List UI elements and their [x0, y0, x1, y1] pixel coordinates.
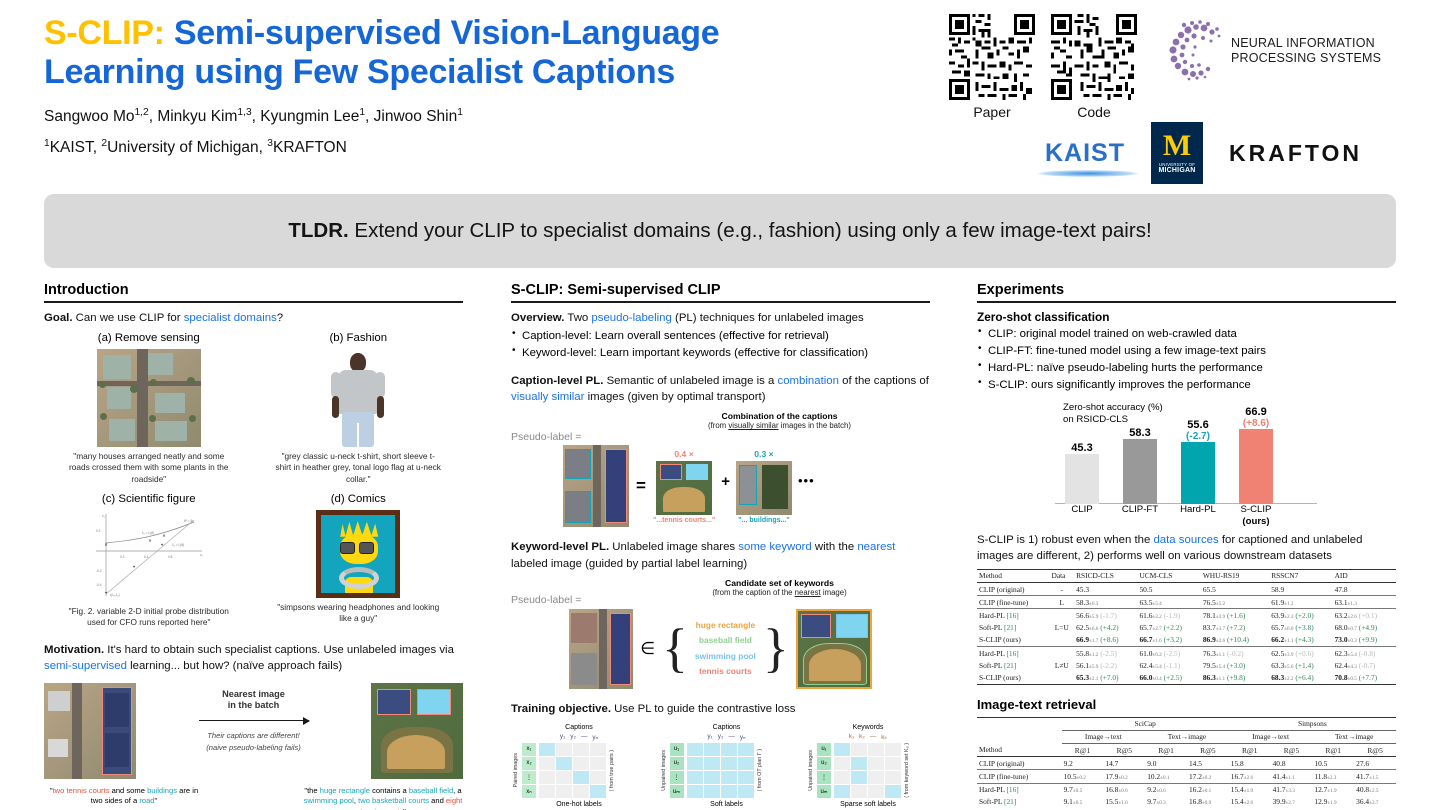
neurips-line1: NEURAL INFORMATION: [1231, 36, 1381, 51]
table-cell: 45.3: [1074, 583, 1137, 596]
robust-a: S-CLIP is 1) robust even when the: [977, 534, 1153, 546]
keyword-pl-link1: some keyword: [738, 541, 811, 553]
table-cell: 66.7±1.6 (+3.2): [1137, 634, 1200, 647]
table-cell-method: Soft-PL [21]: [977, 796, 1062, 808]
motivation-text-b: learning... but how? (naïve approach fai…: [127, 660, 342, 672]
table-cell: 62.5±3.9 (+0.6): [1269, 647, 1332, 660]
fig2-pseudo-label: Pseudo-label =: [511, 594, 629, 606]
loss-row-axis-label: Unpaired images: [808, 750, 814, 791]
fashion-image: [318, 349, 398, 447]
fig1-image2: [736, 461, 792, 515]
col-label: kₖ: [881, 733, 887, 741]
svg-text:0.4: 0.4: [144, 555, 149, 559]
overview-bullet: Caption-level: Learn overall sentences (…: [511, 328, 930, 345]
arrow-title-line1: Nearest image: [184, 689, 324, 701]
fig2-sub: (from the caption of the nearest image): [629, 588, 930, 597]
table-col-header: RSSCN7: [1269, 569, 1332, 582]
table-metric-header: R@5: [1271, 743, 1313, 756]
table-cell: 61.9±1.2: [1269, 596, 1332, 609]
neurips-line2: PROCESSING SYSTEMS: [1231, 51, 1381, 66]
brace-left-icon: {: [662, 630, 688, 668]
chart-x-labels: CLIPCLIP-FTHard-PLS-CLIP(ours): [1063, 504, 1275, 528]
fig1-caption2: "... buildings...": [736, 517, 792, 524]
motivation-caption-right: "the huge rectangle contains a baseball …: [303, 786, 463, 810]
row-label: ⋮: [522, 771, 536, 784]
table-cell-method: CLIP (fine-tune): [977, 596, 1050, 609]
table-col-header: UCM-CLS: [1137, 569, 1200, 582]
svg-text:λ₂ = L(θ): λ₂ = L(θ): [172, 543, 184, 547]
qr-paper-label: Paper: [973, 104, 1010, 120]
loss-figure-keyword: Keywords k₁k₂—kₖ Unpaired images u₁ u₂ ⋮…: [808, 724, 928, 810]
fig1-pseudo-label: Pseudo-label =: [511, 431, 629, 443]
fig2-nearest-image: [796, 609, 872, 689]
header-left: S-CLIP: Semi-supervised Vision-Language …: [44, 14, 949, 184]
row-label: u₁: [817, 743, 831, 756]
caption-pl-a: Semantic of unlabeled image is a: [603, 375, 777, 387]
row-label: xₙ: [522, 785, 536, 798]
table-cell: 70.8±0.5 (+7.7): [1333, 671, 1396, 684]
table-cell: 68.3±2.2 (+6.4): [1269, 671, 1332, 684]
table-cell: 9.0: [1145, 757, 1187, 770]
table-row: CLIP (fine-tune)10.5±0.217.9±0.210.2±0.1…: [977, 770, 1396, 783]
poster-header: S-CLIP: Semi-supervised Vision-Language …: [0, 0, 1440, 184]
domain-caption: "many houses arranged neatly and some ro…: [65, 451, 233, 485]
col-label: y₂: [718, 733, 724, 741]
row-label: x₂: [522, 757, 536, 770]
table-cell-data: [1050, 634, 1075, 647]
fig2-member-symbol: ∈: [640, 639, 655, 659]
loss-row-axis-label: Unpaired images: [661, 750, 667, 791]
table-row: CLIP (original)-45.350.565.558.947.8: [977, 583, 1396, 596]
table-cell-data: [1050, 647, 1075, 660]
loss-right-label: ( from OT plan Γ ): [757, 749, 763, 791]
table-cell: 17.2±0.2: [1187, 770, 1229, 783]
section-heading-method: S-CLIP: Semi-supervised CLIP: [511, 282, 930, 303]
table-cell: 83.7±3.7 (+7.2): [1201, 622, 1269, 634]
overview-link: pseudo-labeling: [591, 312, 671, 324]
table-cell: 41.7±3.3: [1271, 783, 1313, 796]
row-label: x₁: [522, 743, 536, 756]
col-label: yₙ: [592, 733, 598, 741]
col-label: yₙ: [740, 733, 746, 741]
robust-link: data sources: [1153, 534, 1218, 546]
table-cell-method: CLIP (original): [977, 583, 1050, 596]
table-row: Hard-PL [16]9.7±0.516.8±0.69.2±0.616.2±0…: [977, 783, 1396, 796]
bar: [1239, 429, 1273, 504]
table-cell: 15.4±1.9: [1229, 783, 1271, 796]
row-label: uₘ: [670, 785, 684, 798]
col-label: y₁: [560, 733, 565, 741]
goal-link: specialist domains: [184, 312, 277, 324]
table-cell: 56.1±5.9 (-2.2): [1074, 659, 1137, 671]
table-cell: 66.9±1.7 (+8.6): [1074, 634, 1137, 647]
loss-matrix-keyword: [834, 743, 901, 798]
table-row: Hard-PL [16]56.6±5.9 (-1.7)61.6±2.2 (-1.…: [977, 609, 1396, 622]
bar-delta-label: (-2.7): [1186, 431, 1210, 442]
goal-text: Goal. Can we use CLIP for specialist dom…: [44, 310, 463, 326]
loss-right-label: ( from true pairs ): [609, 750, 615, 791]
table-cell: 73.0±0.3 (+9.9): [1333, 634, 1396, 647]
goal-label: Goal.: [44, 312, 72, 324]
arrow-title-line2: in the batch: [184, 700, 324, 712]
domain-grid-row1: (a) Remove sensing: [44, 332, 463, 485]
loss-bottom-label: One-hot labels: [513, 801, 645, 808]
table-cell: 9.1±0.5: [1062, 796, 1104, 808]
row-label: uₘ: [817, 785, 831, 798]
row-label: ⋮: [670, 771, 684, 784]
table-cell: 15.5±1.0: [1103, 796, 1145, 808]
caption-pl-figure: Pseudo-label = Combination of the captio…: [511, 411, 930, 527]
bar: [1181, 442, 1215, 504]
loss-figure-clip: Captions y₁y₂—yₙ Paired images x₁ x₂ ⋮ x…: [513, 724, 645, 810]
keyword-item: swimming pool: [695, 649, 756, 665]
keyword-pl-b: with the: [812, 541, 858, 553]
tldr-label: TLDR.: [288, 219, 348, 242]
motivation-arrow: Nearest image in the batch Their caption…: [184, 683, 324, 754]
table-cell-method: CLIP (fine-tune): [977, 770, 1062, 783]
domain-cell-remote-sensing: (a) Remove sensing: [44, 332, 254, 485]
table-cell: 58.3±6.3: [1074, 596, 1137, 609]
classification-results-table: MethodDataRSICD-CLSUCM-CLSWHU-RS19RSSCN7…: [977, 569, 1396, 685]
overview-text: Overview. Two pseudo-labeling (PL) techn…: [511, 310, 930, 326]
zeroshot-bullet: Hard-PL: naïve pseudo-labeling hurts the…: [977, 360, 1396, 377]
tldr-text: TLDR. Extend your CLIP to specialist dom…: [288, 219, 1151, 243]
qr-code-icon[interactable]: [949, 14, 1035, 100]
umich-letter: M: [1163, 132, 1191, 159]
training-objective-text: Training objective. Use PL to guide the …: [511, 701, 930, 717]
table-direction-header: Image→text: [1062, 730, 1146, 743]
table-cell: 9.7±0.3: [1145, 796, 1187, 808]
fig1-weight2: 0.3 ×: [736, 449, 792, 459]
poster-columns: Introduction Goal. Can we use CLIP for s…: [0, 268, 1440, 810]
svg-text:✕: ✕: [162, 533, 165, 538]
table-col-header: RSICD-CLS: [1074, 569, 1137, 582]
fig2-sub-b: image): [821, 588, 847, 597]
row-label: u₁: [670, 743, 684, 756]
col-label: —: [728, 733, 734, 741]
zeroshot-bullet: CLIP-FT: fine-tuned model using a few im…: [977, 343, 1396, 360]
neurips-text: NEURAL INFORMATION PROCESSING SYSTEMS: [1231, 36, 1381, 66]
column-experiments: Experiments Zero-shot classification CLI…: [977, 282, 1418, 810]
fig2-keyword-list: huge rectangle baseball field swimming p…: [695, 618, 756, 680]
table-cell: 55.8±1.2 (-2.5): [1074, 647, 1137, 660]
arrow-line-icon: [199, 720, 309, 721]
qr-code-label: Code: [1077, 104, 1110, 120]
fig1-caption1: "...tennis courts...": [653, 517, 715, 524]
domain-cell-scientific-figure: (c) Scientific figure ✕ ✕ ✕ ✦: [44, 493, 254, 628]
bar-category-label: Hard-PL: [1179, 504, 1217, 528]
comics-image: [316, 510, 400, 598]
loss-row-axis-label: Paired images: [513, 753, 519, 787]
fig1-sub-u: visually similar: [728, 421, 778, 430]
bar-value-label: 66.9: [1245, 406, 1266, 418]
zeroshot-bullets: CLIP: original model trained on web-craw…: [977, 326, 1396, 394]
table-col-header: [977, 730, 1062, 743]
loss-bottom-label: Sparse soft labels: [808, 801, 928, 808]
caption-pl-b: of the captions of: [839, 375, 929, 387]
col-label: k₂: [859, 733, 865, 741]
table-cell-method: CLIP (original): [977, 757, 1062, 770]
table-row: Soft-PL [21]L≠U56.1±5.9 (-2.2)62.4±5.4 (…: [977, 659, 1396, 671]
table-col-header: WHU-RS19: [1201, 569, 1269, 582]
kaist-logo: KAIST: [1045, 139, 1125, 168]
bar-delta-label: (+8.6): [1243, 418, 1269, 429]
table-cell: 61.0±6.2 (-2.5): [1137, 647, 1200, 660]
table-cell: 40.8: [1271, 757, 1313, 770]
col-label: k₁: [849, 733, 854, 741]
table-cell: 76.3±1.1 (-0.2): [1201, 647, 1269, 660]
domain-cell-fashion: (b) Fashion "grey classic u-neck t-shirt…: [254, 332, 464, 485]
table-cell: 17.9±0.2: [1103, 770, 1145, 783]
header-right: Paper: [949, 14, 1416, 184]
table-cell: 16.8±0.6: [1103, 783, 1145, 796]
svg-text:0.2: 0.2: [96, 529, 101, 533]
zeroshot-heading: Zero-shot classification: [977, 310, 1396, 324]
bar: [1123, 439, 1157, 504]
table-cell: 41.7±1.5: [1354, 770, 1396, 783]
keyword-pl-figure: Pseudo-label = Candidate set of keywords…: [511, 578, 930, 689]
motivation-label: Motivation.: [44, 644, 104, 656]
tldr-body: Extend your CLIP to specialist domains (…: [349, 219, 1152, 242]
bar: [1065, 454, 1099, 504]
goal-text-b: ?: [277, 312, 283, 324]
column-method: S-CLIP: Semi-supervised CLIP Overview. T…: [511, 282, 952, 810]
qr-paper[interactable]: Paper: [949, 14, 1035, 120]
fig2-title: Candidate set of keywords: [629, 578, 930, 588]
table-cell-method: Hard-PL [16]: [977, 647, 1050, 660]
svg-text:0.6: 0.6: [168, 555, 173, 559]
table-cell: 68.0±0.7 (+4.9): [1333, 622, 1396, 634]
table-cell: 62.3±5.4 (-0.8): [1333, 647, 1396, 660]
table-cell-method: Soft-PL [21]: [977, 659, 1050, 671]
table-cell-data: [1050, 609, 1075, 622]
table-group-header: SciCap: [1062, 717, 1229, 730]
loss-row-labels: u₁ u₂ ⋮ uₘ: [670, 743, 684, 798]
table-row: S-CLIP (ours)65.3±2.1 (+7.0)66.0±0.4 (+2…: [977, 671, 1396, 684]
keyword-pl-a: Unlabeled image shares: [609, 541, 738, 553]
bar-value-label: 55.6: [1187, 419, 1208, 431]
table-cell: 15.8: [1229, 757, 1271, 770]
krafton-logo: KRAFTON: [1229, 140, 1362, 167]
table-col-header: AID: [1333, 569, 1396, 582]
table-metric-header: R@5: [1103, 743, 1145, 756]
svg-text:✕: ✕: [104, 542, 107, 547]
overview-bullet: Keyword-level: Learn important keywords …: [511, 345, 930, 362]
keyword-pl-label: Keyword-level PL.: [511, 541, 609, 553]
motivation-figure: Nearest image in the batch Their caption…: [44, 683, 463, 779]
table-col-header: Method: [977, 743, 1062, 756]
satellite-image-right: [371, 683, 463, 779]
umich-line2: MICHIGAN: [1159, 167, 1196, 174]
fig1-sub-a: (from: [708, 421, 728, 430]
satellite-image-left: [44, 683, 136, 779]
caption-pl-label: Caption-level PL.: [511, 375, 603, 387]
column-introduction: Introduction Goal. Can we use CLIP for s…: [44, 282, 485, 810]
fig1-plus: +: [721, 473, 730, 500]
table-metric-header: R@1: [1229, 743, 1271, 756]
table-metric-header: R@5: [1187, 743, 1229, 756]
row-label: ⋮: [817, 771, 831, 784]
fig1-equals: =: [636, 476, 646, 496]
svg-text:-0.4: -0.4: [96, 583, 102, 587]
table-col-header: [977, 717, 1062, 730]
table-cell-method: S-CLIP (ours): [977, 671, 1050, 684]
domain-caption: "Fig. 2. variable 2-D initial probe dist…: [65, 606, 233, 628]
bar-group-s-clip: 66.9(+8.6): [1237, 406, 1275, 504]
keyword-item: huge rectangle: [695, 618, 756, 634]
fig1-weight1: 0.4 ×: [653, 449, 715, 459]
svg-text:✦: ✦: [160, 542, 164, 547]
table-cell: 65.7±6.6 (+3.8): [1269, 622, 1332, 634]
bar-group-clip: 45.3: [1063, 442, 1101, 504]
table-row: Soft-PL [21]9.1±0.515.5±1.09.7±0.316.8±0…: [977, 796, 1396, 808]
table-cell: 62.4±5.4 (-1.1): [1137, 659, 1200, 671]
table-cell: 66.2±1.1 (+4.3): [1269, 634, 1332, 647]
table-cell: 14.7: [1103, 757, 1145, 770]
qr-code[interactable]: Code: [1051, 14, 1137, 120]
table-cell-method: S-CLIP (ours): [977, 634, 1050, 647]
table-metric-header: R@5: [1354, 743, 1396, 756]
table-row: S-CLIP (ours)66.9±1.7 (+8.6)66.7±1.6 (+3…: [977, 634, 1396, 647]
loss-col-labels: k₁k₂—kₖ: [808, 733, 928, 741]
bar-group-hard-pl: 55.6(-2.7): [1179, 419, 1217, 504]
overview-label: Overview.: [511, 312, 564, 324]
fig1-sub: (from visually similar images in the bat…: [629, 421, 930, 430]
brace-right-icon: }: [763, 630, 789, 668]
col-label: —: [581, 733, 587, 741]
overview-bullets: Caption-level: Learn overall sentences (…: [511, 328, 930, 362]
tldr-banner: TLDR. Extend your CLIP to specialist dom…: [44, 194, 1396, 268]
loss-top-label: Captions: [661, 724, 793, 731]
loss-figures: Captions y₁y₂—yₙ Paired images x₁ x₂ ⋮ x…: [511, 724, 930, 810]
svg-text:θ* = θ₀: θ* = θ₀: [184, 519, 194, 523]
motivation-text: Motivation. It's hard to obtain such spe…: [44, 642, 463, 674]
fig2-query-image: [569, 609, 633, 689]
table-cell: 14.5: [1187, 757, 1229, 770]
retrieval-heading: Image-text retrieval: [977, 697, 1396, 712]
table-direction-header: Text→image: [1145, 730, 1229, 743]
scatter-plot-icon: ✕ ✕ ✕ ✦ ✦ ✦ x₂x₁ λ₁ = L(θ)λ₂ = L(θ) θ* =…: [90, 510, 208, 602]
robustness-text: S-CLIP is 1) robust even when the data s…: [977, 532, 1396, 564]
table-cell: 36.4±2.7: [1354, 796, 1396, 808]
table-group-header: Simpsons: [1229, 717, 1396, 730]
section-heading-experiments: Experiments: [977, 282, 1396, 303]
table-direction-header: Text→image: [1312, 730, 1396, 743]
title-highlight: S-CLIP:: [44, 14, 165, 52]
table-cell: 63.1±1.3: [1333, 596, 1396, 609]
keyword-item: tennis courts: [695, 664, 756, 680]
table-row: Hard-PL [16]55.8±1.2 (-2.5)61.0±6.2 (-2.…: [977, 647, 1396, 660]
svg-text:x₁: x₁: [200, 553, 203, 557]
scientific-figure-image: ✕ ✕ ✕ ✦ ✦ ✦ x₂x₁ λ₁ = L(θ)λ₂ = L(θ) θ* =…: [90, 510, 208, 602]
table-cell: 9.2: [1062, 757, 1104, 770]
svg-text:r(λ₁,λ₂): r(λ₁,λ₂): [110, 593, 120, 597]
bar-category-label: CLIP: [1063, 504, 1101, 528]
retrieval-results-table: SciCapSimpsonsImage→textText→imageImage→…: [977, 717, 1396, 810]
table-cell: 63.2±2.6 (+0.1): [1333, 609, 1396, 622]
fig2-sub-a: (from the caption of the: [712, 588, 794, 597]
motivation-captions: "two tennis courts and some buildings ar…: [44, 782, 463, 810]
svg-text:x₂: x₂: [102, 514, 106, 518]
table-cell-data: [1050, 671, 1075, 684]
table-cell: 65.5: [1201, 583, 1269, 596]
loss-figure-caption: Captions y₁y₂—yₙ Unpaired images u₁ u₂ ⋮…: [661, 724, 793, 810]
caption-pl-c: images (given by optimal transport): [584, 391, 765, 403]
loss-matrix-clip: [539, 743, 606, 798]
domain-title: (b) Fashion: [329, 332, 387, 344]
svg-text:✕: ✕: [148, 538, 151, 543]
table-cell: 40.8±2.5: [1354, 783, 1396, 796]
table-col-header: Method: [977, 569, 1050, 582]
svg-text:-0.2: -0.2: [96, 569, 102, 573]
table-cell-data: L≠U: [1050, 659, 1075, 671]
table-cell: 41.4±1.1: [1271, 770, 1313, 783]
loss-top-label: Keywords: [808, 724, 928, 731]
table-cell: 47.8: [1333, 583, 1396, 596]
qr-code-icon[interactable]: [1051, 14, 1137, 100]
table-cell: 65.7±2.7 (+2.2): [1137, 622, 1200, 634]
bar-value-label: 45.3: [1071, 442, 1092, 454]
page-title: S-CLIP: Semi-supervised Vision-Language …: [44, 14, 949, 93]
domain-title: (c) Scientific figure: [102, 493, 196, 505]
table-col-header: Data: [1050, 569, 1075, 582]
zeroshot-bullet: CLIP: original model trained on web-craw…: [977, 326, 1396, 343]
table-cell: 9.7±0.5: [1062, 783, 1104, 796]
arrow-sub-line1: Their captions are different!: [184, 731, 324, 742]
caption-pl-text: Caption-level PL. Semantic of unlabeled …: [511, 373, 930, 405]
loss-row-labels: x₁ x₂ ⋮ xₙ: [522, 743, 536, 798]
training-label: Training objective.: [511, 703, 611, 715]
table-cell: 56.6±5.9 (-1.7): [1074, 609, 1137, 622]
domain-caption: "grey classic u-neck t-shirt, short slee…: [274, 451, 442, 485]
fig1-title: Combination of the captions: [629, 411, 930, 421]
svg-text:λ₁ = L(θ): λ₁ = L(θ): [142, 531, 154, 535]
loss-top-label: Captions: [513, 724, 645, 731]
bar-category-label: CLIP-FT: [1121, 504, 1159, 528]
domain-title: (d) Comics: [331, 493, 386, 505]
table-cell: 76.5±5.2: [1201, 596, 1269, 609]
author-list: Sangwoo Mo1,2, Minkyu Kim1,3, Kyungmin L…: [44, 107, 949, 126]
title-rest-line2: Learning using Few Specialist Captions: [44, 53, 675, 91]
zeroshot-bar-chart: Zero-shot accuracy (%) on RSICD-CLS 45.3…: [977, 402, 1396, 530]
loss-matrix-caption: [687, 743, 754, 798]
fig1-sub-b: images in the batch): [779, 421, 851, 430]
zeroshot-bullet: S-CLIP: ours significantly improves the …: [977, 377, 1396, 394]
table-cell: 10.2±0.1: [1145, 770, 1187, 783]
motivation-left: [44, 683, 136, 779]
bar-category-label: S-CLIP(ours): [1237, 504, 1275, 528]
row-label: u₂: [670, 757, 684, 770]
table-cell: 9.2±0.6: [1145, 783, 1187, 796]
svg-text:0.2: 0.2: [120, 555, 125, 559]
table-cell: 10.5±0.2: [1062, 770, 1104, 783]
table-cell-method: Hard-PL [16]: [977, 609, 1050, 622]
keyword-pl-c: labeled image (guided by partial label l…: [511, 558, 747, 570]
satellite-image: [97, 349, 201, 447]
table-cell: 61.6±2.2 (-1.9): [1137, 609, 1200, 622]
table-cell: 86.3±1.1 (+9.8): [1201, 671, 1269, 684]
table-row: CLIP (fine-tune)L58.3±6.363.5±5.476.5±5.…: [977, 596, 1396, 609]
table-cell: 78.1±3.9 (+1.6): [1201, 609, 1269, 622]
table-cell: 63.9±2.3 (+2.0): [1269, 609, 1332, 622]
table-cell: 15.4±2.6: [1229, 796, 1271, 808]
neurips-logo: NEURAL INFORMATION PROCESSING SYSTEMS: [1159, 18, 1381, 84]
overview-text-a: Two: [564, 312, 591, 324]
fig1-dots: •••: [798, 473, 815, 500]
table-cell: 16.8±0.9: [1187, 796, 1229, 808]
svg-text:✦: ✦: [132, 564, 136, 569]
motivation-text-a: It's hard to obtain such specialist capt…: [104, 644, 454, 656]
